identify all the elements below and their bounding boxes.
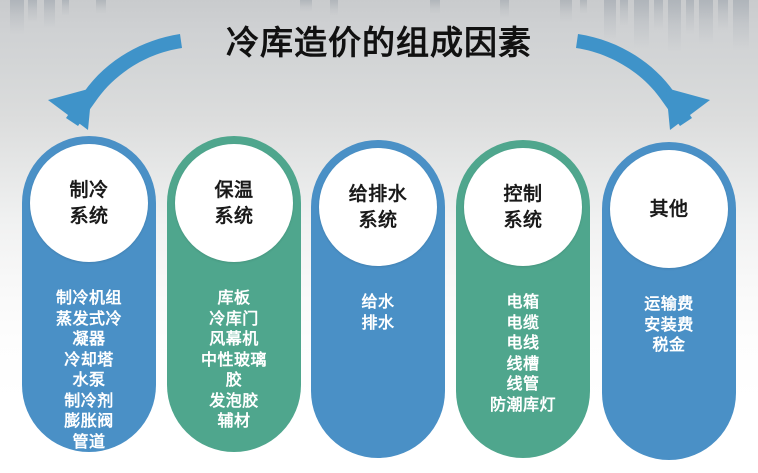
column-heading-line: 系统: [214, 203, 253, 229]
list-item: 电缆: [456, 313, 590, 334]
list-item: 冷库门: [167, 309, 301, 330]
column-water-supply-drainage-system[interactable]: 给排水 系统 给水 排水: [311, 140, 445, 458]
column-item-list: 给水 排水: [311, 292, 445, 333]
list-item: 辅材: [167, 411, 301, 432]
list-item: 凝器: [22, 329, 156, 350]
column-heading: 控制 系统: [503, 181, 542, 233]
column-heading-line: 系统: [503, 207, 542, 233]
column-item-list: 运输费 安装费 税金: [602, 294, 736, 356]
slide-canvas: 制冷 系统 制冷机组 蒸发式冷 凝器 冷却塔 水泵 制冷剂 膨胀阀 管道 保温 …: [0, 0, 758, 473]
column-heading-line: 系统: [349, 207, 408, 233]
column-heading: 制冷 系统: [69, 177, 108, 229]
list-item: 电线: [456, 333, 590, 354]
list-item: 风幕机: [167, 329, 301, 350]
list-item: 冷却塔: [22, 350, 156, 371]
column-heading-line: 保温: [214, 177, 253, 203]
list-item: 线槽: [456, 354, 590, 375]
column-others[interactable]: 其他 运输费 安装费 税金: [602, 142, 736, 460]
list-item: 安装费: [602, 315, 736, 336]
list-item: 排水: [311, 313, 445, 334]
column-insulation-system[interactable]: 保温 系统 库板 冷库门 风幕机 中性玻璃 胶 发泡胶 辅材: [167, 136, 301, 452]
list-item: 制冷机组: [22, 288, 156, 309]
list-item: 胶: [167, 370, 301, 391]
list-item: 电箱: [456, 292, 590, 313]
list-item: 给水: [311, 292, 445, 313]
column-heading-line: 系统: [69, 203, 108, 229]
page-title: 冷库造价的组成因素: [0, 22, 758, 64]
column-control-system[interactable]: 控制 系统 电箱 电缆 电线 线槽 线管 防潮库灯: [456, 140, 590, 458]
list-item: 税金: [602, 335, 736, 356]
column-heading: 给排水 系统: [349, 181, 408, 233]
column-heading: 保温 系统: [214, 177, 253, 229]
column-heading-line: 控制: [503, 181, 542, 207]
list-item: 运输费: [602, 294, 736, 315]
column-heading-line: 制冷: [69, 177, 108, 203]
column-heading-line: 给排水: [349, 181, 408, 207]
column-refrigeration-system[interactable]: 制冷 系统 制冷机组 蒸发式冷 凝器 冷却塔 水泵 制冷剂 膨胀阀 管道: [22, 136, 156, 452]
list-item: 制冷剂: [22, 391, 156, 412]
list-item: 水泵: [22, 370, 156, 391]
column-head-circle: 制冷 系统: [30, 144, 148, 262]
list-item: 防潮库灯: [456, 395, 590, 416]
list-item: 库板: [167, 288, 301, 309]
list-item: 膨胀阀: [22, 411, 156, 432]
list-item: 蒸发式冷: [22, 309, 156, 330]
column-item-list: 库板 冷库门 风幕机 中性玻璃 胶 发泡胶 辅材: [167, 288, 301, 432]
column-head-circle: 控制 系统: [464, 148, 582, 266]
list-item: 发泡胶: [167, 391, 301, 412]
list-item: 线管: [456, 374, 590, 395]
column-head-circle: 其他: [610, 150, 728, 268]
column-item-list: 制冷机组 蒸发式冷 凝器 冷却塔 水泵 制冷剂 膨胀阀 管道: [22, 288, 156, 452]
column-head-circle: 给排水 系统: [319, 148, 437, 266]
column-item-list: 电箱 电缆 电线 线槽 线管 防潮库灯: [456, 292, 590, 415]
column-head-circle: 保温 系统: [175, 144, 293, 262]
list-item: 中性玻璃: [167, 350, 301, 371]
list-item: 管道: [22, 432, 156, 453]
column-heading: 其他: [649, 196, 688, 222]
column-heading-line: 其他: [649, 196, 688, 222]
